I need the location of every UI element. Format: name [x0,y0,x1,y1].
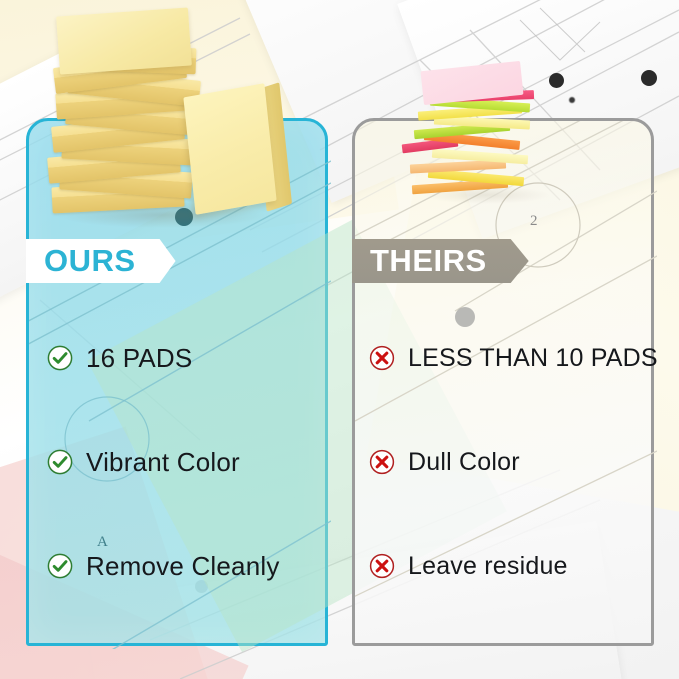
blueprint-dot [641,70,657,86]
ours-feature-item: Vibrant Color [29,445,325,479]
check-circle-icon [47,553,73,579]
theirs-feature-item: Leave residue [355,549,651,583]
theirs-feature-item: Dull Color [355,445,651,479]
theirs-feature-label: Leave residue [408,552,568,581]
theirs-feature-item: LESS THAN 10 PADS [355,341,651,375]
ours-feature-list: 16 PADS Vibrant Color Remove Cleanly [29,341,325,583]
ours-badge-label: OURS [44,243,136,279]
ours-badge: OURS [26,239,176,283]
ours-product-image [46,16,296,222]
note-pad-leaning [183,83,276,215]
theirs-feature-label: LESS THAN 10 PADS [408,344,658,373]
ours-feature-label: 16 PADS [86,343,192,374]
theirs-badge: THEIRS [352,239,529,283]
theirs-feature-label: Dull Color [408,448,520,477]
theirs-badge-label: THEIRS [370,243,487,279]
ours-feature-item: Remove Cleanly [29,549,325,583]
x-circle-icon [369,345,395,371]
x-circle-icon [369,553,395,579]
ours-feature-label: Vibrant Color [86,447,240,478]
ours-feature-item: 16 PADS [29,341,325,375]
comparison-infographic: A OURS 16 PADS Vibrant Color [0,0,679,679]
blueprint-annotation-2: 2 [530,213,538,230]
check-circle-icon [47,345,73,371]
theirs-product-image [408,78,568,202]
x-circle-icon [369,449,395,475]
ours-feature-label: Remove Cleanly [86,551,280,582]
blueprint-dot [569,97,575,103]
check-circle-icon [47,449,73,475]
theirs-feature-list: LESS THAN 10 PADS Dull Color Leave resid… [355,341,651,583]
note-pad-top [56,7,192,74]
